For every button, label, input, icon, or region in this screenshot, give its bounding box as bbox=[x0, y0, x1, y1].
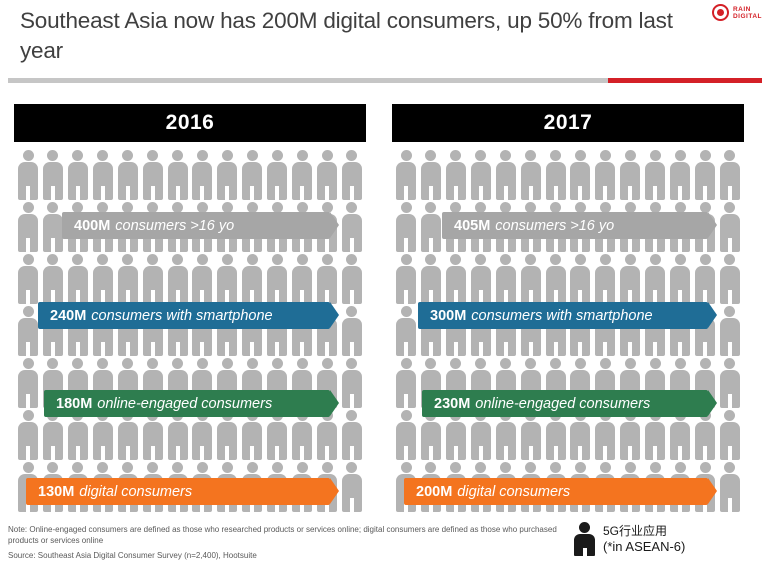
stat-value: 405M bbox=[454, 218, 490, 234]
person-icon bbox=[595, 150, 615, 200]
person-icon bbox=[421, 150, 441, 200]
people-grid-2016 bbox=[14, 150, 366, 514]
person-icon bbox=[317, 150, 337, 200]
person-icon bbox=[93, 410, 113, 460]
person-icon bbox=[695, 150, 715, 200]
person-icon bbox=[521, 150, 541, 200]
person-icon bbox=[720, 306, 740, 356]
person-icon bbox=[570, 410, 590, 460]
person-icon bbox=[396, 410, 416, 460]
person-icon bbox=[168, 254, 188, 304]
person-icon bbox=[720, 410, 740, 460]
watermark: 5G行业应用 (*in ASEAN-6) bbox=[572, 518, 762, 560]
person-icon bbox=[143, 254, 163, 304]
person-icon bbox=[620, 254, 640, 304]
year-panel-2017: 2017 405Mconsumers >16 yo300Mconsumers w… bbox=[392, 104, 744, 514]
person-icon bbox=[670, 254, 690, 304]
stat-value: 400M bbox=[74, 218, 110, 234]
stat-callout-blue: 240Mconsumers with smartphone bbox=[38, 302, 330, 329]
person-icon bbox=[18, 410, 38, 460]
person-icon bbox=[620, 410, 640, 460]
person-icon bbox=[396, 202, 416, 252]
person-icon bbox=[192, 150, 212, 200]
brand-logo: RAIN DIGITAL bbox=[712, 4, 762, 21]
person-icon bbox=[720, 254, 740, 304]
person-icon bbox=[18, 358, 38, 408]
brand-logo-text: RAIN DIGITAL bbox=[733, 6, 762, 20]
person-icon bbox=[670, 150, 690, 200]
stat-caption: consumers >16 yo bbox=[115, 218, 234, 234]
person-icon bbox=[317, 254, 337, 304]
person-icon bbox=[192, 254, 212, 304]
person-icon bbox=[267, 410, 287, 460]
people-row bbox=[392, 150, 744, 202]
stat-value: 200M bbox=[416, 484, 452, 500]
person-icon bbox=[396, 150, 416, 200]
stat-caption: digital consumers bbox=[79, 484, 192, 500]
callout-tail bbox=[330, 302, 339, 328]
person-icon bbox=[645, 254, 665, 304]
stat-callout-green: 230Monline-engaged consumers bbox=[422, 390, 708, 417]
person-icon bbox=[720, 202, 740, 252]
stat-callout-grey: 405Mconsumers >16 yo bbox=[442, 212, 708, 239]
person-icon bbox=[471, 150, 491, 200]
stat-caption: digital consumers bbox=[457, 484, 570, 500]
person-icon bbox=[267, 254, 287, 304]
stat-value: 130M bbox=[38, 484, 74, 500]
person-icon bbox=[342, 202, 362, 252]
person-icon bbox=[342, 306, 362, 356]
person-icon bbox=[546, 254, 566, 304]
person-icon bbox=[396, 254, 416, 304]
stat-caption: consumers >16 yo bbox=[495, 218, 614, 234]
person-icon bbox=[496, 254, 516, 304]
person-icon bbox=[521, 254, 541, 304]
person-icon bbox=[521, 410, 541, 460]
person-icon bbox=[342, 410, 362, 460]
watermark-line-1: 5G行业应用 bbox=[603, 523, 685, 539]
person-icon bbox=[720, 462, 740, 512]
person-icon bbox=[342, 150, 362, 200]
person-icon bbox=[421, 254, 441, 304]
person-icon bbox=[68, 410, 88, 460]
person-icon bbox=[168, 410, 188, 460]
callout-tail bbox=[330, 478, 339, 504]
person-icon bbox=[546, 150, 566, 200]
person-icon bbox=[242, 254, 262, 304]
person-icon bbox=[645, 410, 665, 460]
person-icon bbox=[143, 150, 163, 200]
person-icon bbox=[446, 254, 466, 304]
stat-value: 240M bbox=[50, 308, 86, 324]
people-row bbox=[14, 150, 366, 202]
person-icon bbox=[242, 410, 262, 460]
stat-value: 300M bbox=[430, 308, 466, 324]
person-icon bbox=[645, 150, 665, 200]
person-icon bbox=[620, 150, 640, 200]
callout-tail bbox=[708, 478, 717, 504]
person-icon bbox=[421, 202, 441, 252]
person-icon bbox=[168, 150, 188, 200]
person-icon bbox=[217, 150, 237, 200]
year-panel-2016: 2016 400Mconsumers >16 yo240Mconsumers w… bbox=[14, 104, 366, 514]
person-icon bbox=[471, 410, 491, 460]
person-icon bbox=[217, 254, 237, 304]
person-icon bbox=[217, 410, 237, 460]
people-row bbox=[14, 410, 366, 462]
person-icon bbox=[18, 306, 38, 356]
person-icon bbox=[446, 410, 466, 460]
person-icon bbox=[143, 410, 163, 460]
person-icon bbox=[496, 410, 516, 460]
person-icon bbox=[68, 150, 88, 200]
person-icon bbox=[342, 254, 362, 304]
callout-tail bbox=[330, 390, 339, 416]
person-icon bbox=[471, 254, 491, 304]
page-title: Southeast Asia now has 200M digital cons… bbox=[20, 6, 720, 66]
person-icon bbox=[93, 150, 113, 200]
person-icon bbox=[192, 410, 212, 460]
person-icon bbox=[396, 358, 416, 408]
person-icon bbox=[695, 410, 715, 460]
people-row bbox=[392, 410, 744, 462]
person-icon bbox=[118, 410, 138, 460]
person-icon bbox=[267, 150, 287, 200]
year-label-2016: 2016 bbox=[14, 104, 366, 142]
person-icon bbox=[342, 358, 362, 408]
people-grid-2017 bbox=[392, 150, 744, 514]
person-icon bbox=[18, 202, 38, 252]
person-icon bbox=[342, 462, 362, 512]
person-icon bbox=[43, 254, 63, 304]
header-divider bbox=[8, 78, 762, 83]
people-row bbox=[14, 254, 366, 306]
person-icon bbox=[43, 202, 63, 252]
source-line: Source: Southeast Asia Digital Consumer … bbox=[8, 551, 568, 561]
person-icon bbox=[292, 410, 312, 460]
person-icon bbox=[695, 254, 715, 304]
stat-caption: consumers with smartphone bbox=[91, 308, 272, 324]
person-icon bbox=[292, 150, 312, 200]
person-icon bbox=[43, 410, 63, 460]
person-icon bbox=[18, 254, 38, 304]
stat-callout-grey: 400Mconsumers >16 yo bbox=[62, 212, 330, 239]
stat-callout-blue: 300Mconsumers with smartphone bbox=[418, 302, 708, 329]
callout-tail bbox=[708, 390, 717, 416]
person-icon bbox=[292, 254, 312, 304]
stat-caption: consumers with smartphone bbox=[471, 308, 652, 324]
year-label-2017: 2017 bbox=[392, 104, 744, 142]
person-icon bbox=[570, 150, 590, 200]
person-icon bbox=[595, 254, 615, 304]
person-icon bbox=[595, 410, 615, 460]
watermark-text: 5G行业应用 (*in ASEAN-6) bbox=[603, 523, 685, 555]
callout-tail bbox=[708, 302, 717, 328]
person-icon bbox=[546, 410, 566, 460]
person-icon bbox=[68, 254, 88, 304]
stat-caption: online-engaged consumers bbox=[97, 396, 272, 412]
person-icon bbox=[43, 150, 63, 200]
person-icon bbox=[570, 254, 590, 304]
person-icon bbox=[242, 150, 262, 200]
stat-callout-orange: 200Mdigital consumers bbox=[404, 478, 708, 505]
person-icon bbox=[396, 306, 416, 356]
stat-caption: online-engaged consumers bbox=[475, 396, 650, 412]
person-icon bbox=[572, 522, 598, 556]
rain-logo-icon bbox=[712, 4, 729, 21]
person-icon bbox=[720, 358, 740, 408]
person-icon bbox=[720, 150, 740, 200]
stat-value: 180M bbox=[56, 396, 92, 412]
person-icon bbox=[421, 410, 441, 460]
watermark-line-2: (*in ASEAN-6) bbox=[603, 539, 685, 555]
footnote: Note: Online-engaged consumers are defin… bbox=[8, 524, 568, 546]
person-icon bbox=[446, 150, 466, 200]
stat-callout-orange: 130Mdigital consumers bbox=[26, 478, 330, 505]
callout-tail bbox=[330, 212, 339, 238]
people-row bbox=[392, 254, 744, 306]
stat-callout-green: 180Monline-engaged consumers bbox=[44, 390, 330, 417]
person-icon bbox=[670, 410, 690, 460]
person-icon bbox=[18, 150, 38, 200]
person-icon bbox=[317, 410, 337, 460]
callout-tail bbox=[708, 212, 717, 238]
person-icon bbox=[118, 254, 138, 304]
person-icon bbox=[118, 150, 138, 200]
stat-value: 230M bbox=[434, 396, 470, 412]
person-icon bbox=[93, 254, 113, 304]
person-icon bbox=[496, 150, 516, 200]
